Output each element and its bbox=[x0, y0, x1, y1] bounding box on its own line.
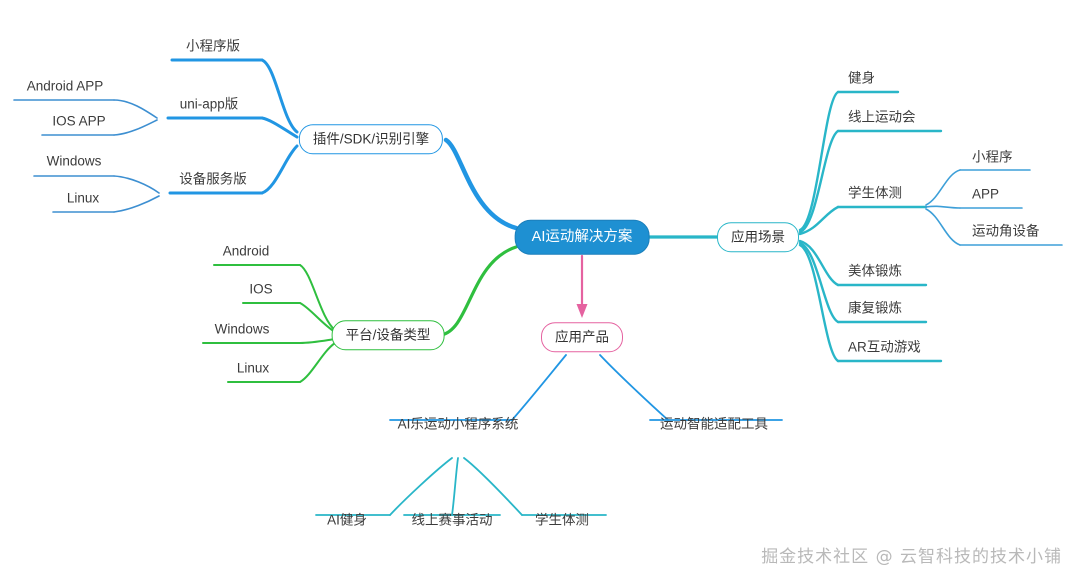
node-fitness[interactable]: 健身 bbox=[848, 72, 875, 89]
node-application-product[interactable]: 应用产品 bbox=[541, 322, 623, 352]
node-ai-sports-miniprogram-system[interactable]: AI乐运动小程序系统 bbox=[398, 418, 519, 435]
connector-scenario-to-ar-game bbox=[800, 245, 838, 361]
connector-platform-to-ios bbox=[300, 303, 335, 332]
connector-student-to-app bbox=[926, 206, 960, 208]
node-student-physical-test[interactable]: 学生体测 bbox=[848, 187, 902, 204]
connector-system-to-online-event bbox=[452, 458, 458, 515]
node-ai-fitness[interactable]: AI健身 bbox=[327, 514, 367, 531]
connector-scenario-to-online-games bbox=[800, 131, 838, 232]
node-device-service-version[interactable]: 设备服务版 bbox=[179, 173, 247, 190]
node-miniprogram-version[interactable]: 小程序版 bbox=[186, 40, 240, 57]
connector-student-to-corner-device bbox=[926, 209, 960, 245]
connector-student-to-miniprogram bbox=[926, 170, 960, 205]
connector-platform-to-linux bbox=[300, 343, 335, 382]
connector-deviceservice-to-windows bbox=[114, 176, 159, 193]
node-sports-smart-adaptation-tool[interactable]: 运动智能适配工具 bbox=[660, 418, 768, 435]
connector-system-to-student-test2 bbox=[464, 458, 522, 515]
node-windows-device[interactable]: Windows bbox=[47, 155, 102, 172]
node-android-app[interactable]: Android APP bbox=[27, 80, 104, 97]
node-windows[interactable]: Windows bbox=[215, 323, 270, 340]
mindmap-root-node[interactable]: AI运动解决方案 bbox=[515, 220, 650, 255]
node-ios[interactable]: IOS bbox=[249, 283, 272, 300]
connector-system-to-ai-fitness bbox=[390, 458, 452, 515]
connector-scenario-to-rehab bbox=[800, 243, 838, 322]
node-app[interactable]: APP bbox=[972, 188, 999, 205]
node-uniapp-version[interactable]: uni-app版 bbox=[180, 98, 239, 115]
node-rehabilitation-exercise[interactable]: 康复锻炼 bbox=[848, 302, 902, 319]
connector-plugin-to-deviceservice bbox=[262, 146, 297, 193]
connector-uniapp-to-android-app bbox=[114, 100, 157, 118]
connector-root-to-plugin bbox=[446, 140, 516, 228]
node-student-physical-test-2[interactable]: 学生体测 bbox=[535, 514, 589, 531]
connector-product-to-smart-tool bbox=[600, 355, 668, 420]
connector-deviceservice-to-linux bbox=[114, 196, 159, 212]
node-ios-app[interactable]: IOS APP bbox=[52, 115, 105, 132]
node-miniprogram[interactable]: 小程序 bbox=[972, 151, 1013, 168]
node-linux[interactable]: Linux bbox=[237, 362, 269, 379]
watermark: 掘金技术社区 @ 云智科技的技术小铺 bbox=[761, 542, 1062, 567]
node-android[interactable]: Android bbox=[223, 245, 270, 262]
arrowhead-root-to-product bbox=[577, 304, 588, 318]
node-ar-interactive-game[interactable]: AR互动游戏 bbox=[848, 341, 921, 358]
node-online-sports-meet[interactable]: 线上运动会 bbox=[848, 111, 916, 128]
node-plugin-sdk-engine[interactable]: 插件/SDK/识别引擎 bbox=[299, 124, 443, 154]
mindmap-canvas: AI运动解决方案 插件/SDK/识别引擎 小程序版 uni-app版 设备服务版… bbox=[0, 0, 1076, 577]
node-platform-device-type[interactable]: 平台/设备类型 bbox=[332, 320, 445, 350]
node-application-scenario[interactable]: 应用场景 bbox=[717, 222, 799, 252]
node-sports-corner-device[interactable]: 运动角设备 bbox=[972, 225, 1040, 242]
connector-uniapp-to-ios-app bbox=[114, 120, 157, 135]
connector-root-to-platform bbox=[441, 247, 516, 335]
node-linux-device[interactable]: Linux bbox=[67, 192, 99, 209]
connector-product-to-ai-mini-system bbox=[512, 355, 566, 420]
mindmap-connectors bbox=[0, 0, 1076, 577]
node-body-beauty-exercise[interactable]: 美体锻炼 bbox=[848, 265, 902, 282]
connector-platform-to-android bbox=[300, 265, 335, 330]
node-online-competition-activity[interactable]: 线上赛事活动 bbox=[412, 514, 493, 531]
connector-platform-to-windows bbox=[300, 339, 335, 343]
